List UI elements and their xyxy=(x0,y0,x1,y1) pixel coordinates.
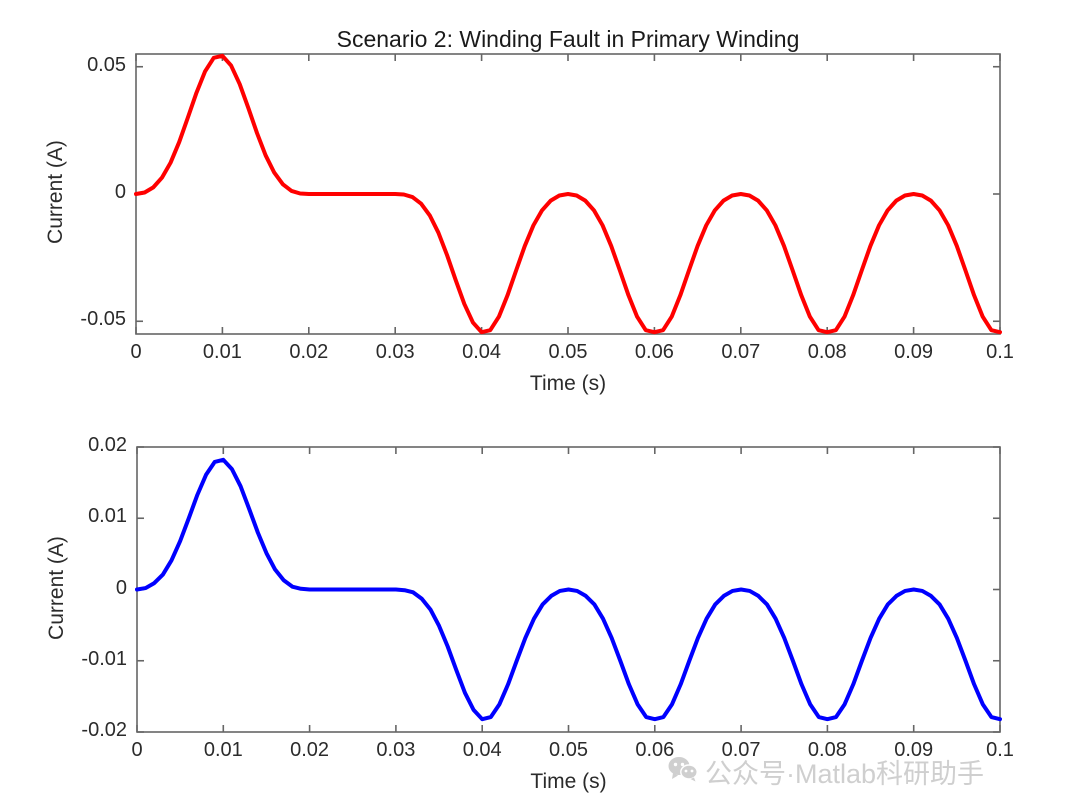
secondary-x-tick-label: 0.07 xyxy=(696,739,786,762)
secondary-y-tick-label: 0.01 xyxy=(27,505,127,528)
secondary-x-tick-label: 0.06 xyxy=(610,739,700,762)
primary-x-tick-label: 0.09 xyxy=(869,341,959,364)
primary-x-tick-label: 0.1 xyxy=(955,341,1045,364)
secondary-x-tick-label: 0.03 xyxy=(351,739,441,762)
chart-panel-primary: Scenario 2: Winding Fault in Primary Win… xyxy=(0,0,1080,420)
primary-x-tick-label: 0.03 xyxy=(350,341,440,364)
primary-x-tick-label: 0.07 xyxy=(696,341,786,364)
primary-x-tick-label: 0.04 xyxy=(437,341,527,364)
secondary-y-tick-label: -0.01 xyxy=(27,648,127,671)
chart-panel-secondary: Current (A) Time (s) 00.010.020.030.040.… xyxy=(0,393,1080,811)
secondary-x-tick-label: 0.02 xyxy=(265,739,355,762)
primary-x-tick-label: 0.02 xyxy=(264,341,354,364)
secondary-x-tick-label: 0.04 xyxy=(437,739,527,762)
secondary-y-tick-label: -0.02 xyxy=(27,719,127,742)
primary-x-tick-label: 0.06 xyxy=(609,341,699,364)
primary-x-tick-label: 0.05 xyxy=(523,341,613,364)
matlab-figure: Scenario 2: Winding Fault in Primary Win… xyxy=(0,0,1080,811)
primary-x-tick-label: 0.01 xyxy=(177,341,267,364)
secondary-x-tick-label: 0 xyxy=(92,739,182,762)
primary-x-tick-label: 0.08 xyxy=(782,341,872,364)
secondary-y-tick-label: 0.02 xyxy=(27,434,127,457)
primary-x-tick-label: 0 xyxy=(91,341,181,364)
secondary-x-tick-label: 0.08 xyxy=(782,739,872,762)
primary-y-tick-label: -0.05 xyxy=(26,308,126,331)
secondary-y-tick-label: 0 xyxy=(27,577,127,600)
x-axis-label-secondary: Time (s) xyxy=(137,770,1000,794)
primary-y-tick-label: 0.05 xyxy=(26,54,126,77)
secondary-x-tick-label: 0.05 xyxy=(524,739,614,762)
secondary-x-tick-label: 0.01 xyxy=(178,739,268,762)
primary-y-tick-label: 0 xyxy=(26,181,126,204)
secondary-x-tick-label: 0.1 xyxy=(955,739,1045,762)
secondary-x-tick-label: 0.09 xyxy=(869,739,959,762)
